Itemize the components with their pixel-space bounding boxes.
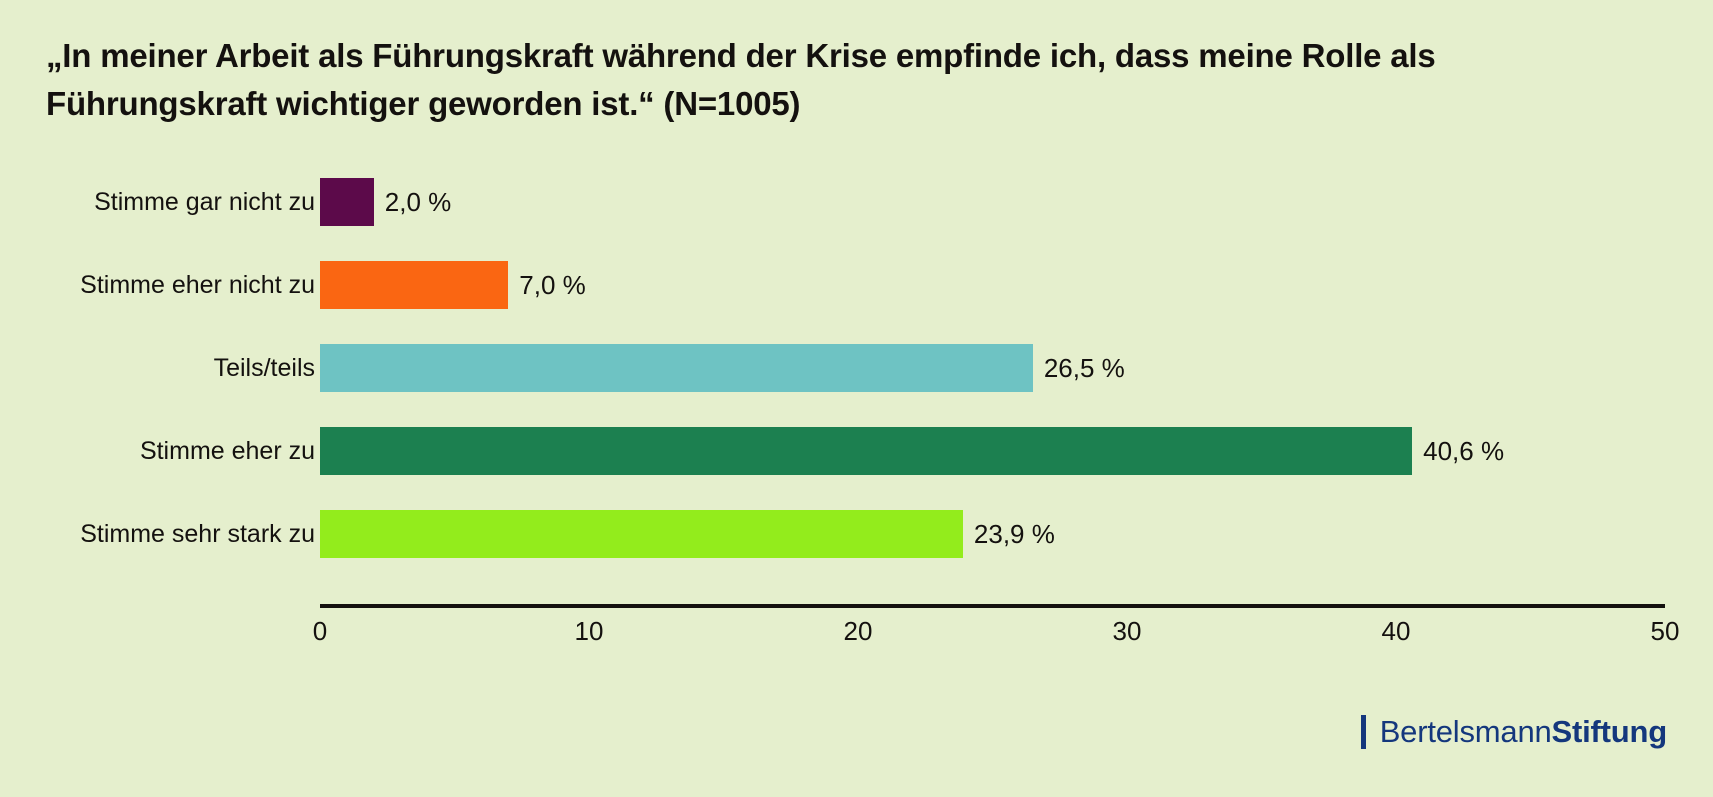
- bar-category-label: Teils/teils: [214, 344, 315, 392]
- bar: [320, 344, 1033, 392]
- x-axis-line: [320, 604, 1665, 608]
- bar: [320, 178, 374, 226]
- bar: [320, 427, 1412, 475]
- bar-row: Stimme eher nicht zu7,0 %: [0, 261, 1713, 309]
- bar-row: Stimme eher zu40,6 %: [0, 427, 1713, 475]
- bar-track: 40,6 %: [320, 427, 1665, 475]
- x-tick-label: 30: [1113, 616, 1142, 647]
- bertelsmann-stiftung-logo: BertelsmannStiftung: [1361, 712, 1667, 752]
- bar-value-label: 7,0 %: [508, 261, 586, 309]
- page-title: „In meiner Arbeit als Führungskraft währ…: [46, 32, 1606, 128]
- chart-page: „In meiner Arbeit als Führungskraft währ…: [0, 0, 1713, 797]
- bar-track: 7,0 %: [320, 261, 1665, 309]
- bar-category-label: Stimme sehr stark zu: [80, 510, 315, 558]
- bar-value-label: 23,9 %: [963, 510, 1055, 558]
- bar-category-label: Stimme gar nicht zu: [94, 178, 315, 226]
- bar-row: Stimme sehr stark zu23,9 %: [0, 510, 1713, 558]
- x-tick-label: 40: [1382, 616, 1411, 647]
- bar-category-label: Stimme eher zu: [140, 427, 315, 475]
- bar: [320, 261, 508, 309]
- bar-row: Teils/teils26,5 %: [0, 344, 1713, 392]
- x-tick-label: 50: [1651, 616, 1680, 647]
- x-tick-label: 0: [313, 616, 327, 647]
- bar-value-label: 2,0 %: [374, 178, 452, 226]
- bar-value-label: 40,6 %: [1412, 427, 1504, 475]
- bar-value-label: 26,5 %: [1033, 344, 1125, 392]
- bar-track: 23,9 %: [320, 510, 1665, 558]
- x-tick-label: 10: [575, 616, 604, 647]
- bar-category-label: Stimme eher nicht zu: [80, 261, 315, 309]
- bar-row: Stimme gar nicht zu2,0 %: [0, 178, 1713, 226]
- logo-accent-bar: [1361, 715, 1366, 749]
- bar-track: 2,0 %: [320, 178, 1665, 226]
- logo-name-bold: Stiftung: [1552, 714, 1667, 749]
- bar: [320, 510, 963, 558]
- plot-area: Stimme gar nicht zu2,0 %Stimme eher nich…: [0, 178, 1713, 608]
- x-axis-tick-labels: 01020304050: [0, 616, 1713, 656]
- bar-track: 26,5 %: [320, 344, 1665, 392]
- logo-name-light: Bertelsmann: [1380, 714, 1552, 749]
- logo-wordmark: BertelsmannStiftung: [1380, 714, 1667, 750]
- x-tick-label: 20: [844, 616, 873, 647]
